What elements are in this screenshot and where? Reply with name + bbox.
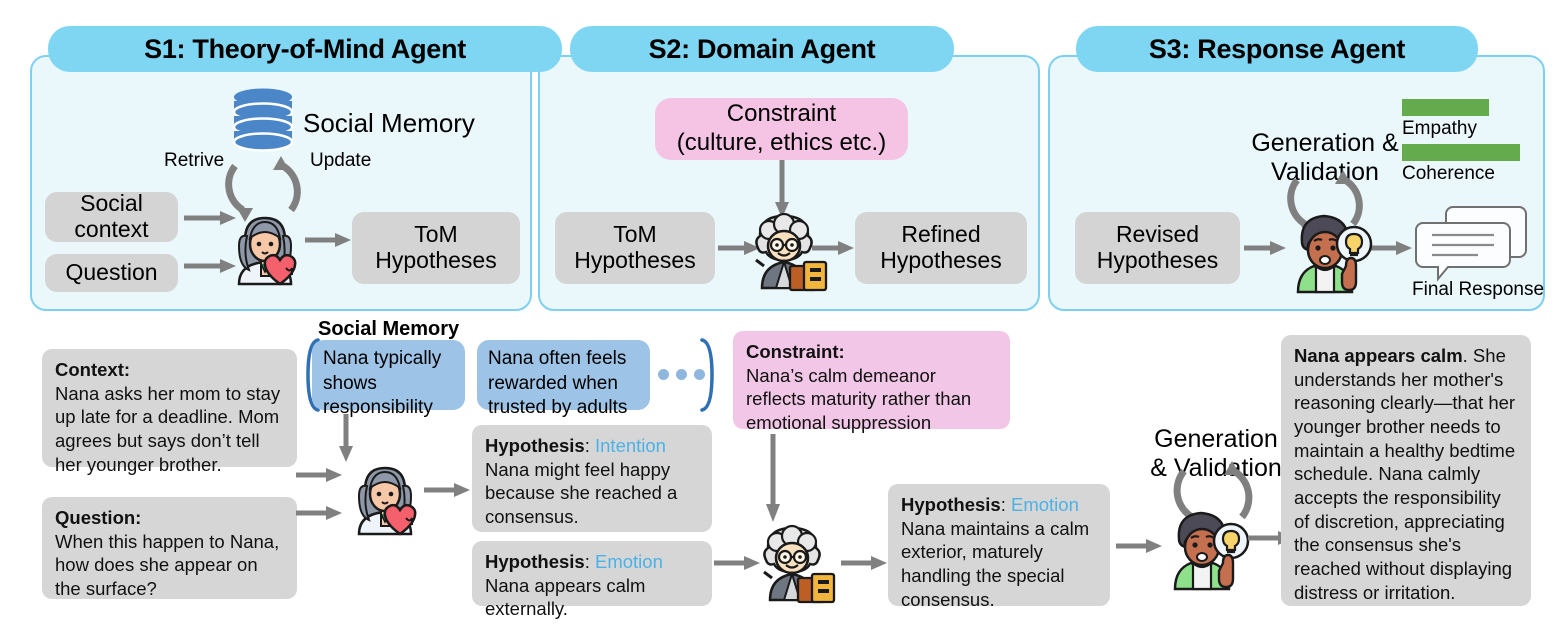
hypothesis-card-0-text: Nana might feel happy because she reache…	[485, 459, 677, 527]
chip-revised-hypotheses-s3: Revised Hypotheses	[1075, 212, 1240, 284]
panel-s1-title: S1: Theory-of-Mind Agent	[144, 34, 466, 65]
chip-tom-hypotheses-s1: ToM Hypotheses	[352, 212, 520, 284]
constraint-box-s2: Constraint (culture, ethics etc.)	[655, 98, 908, 160]
metric-bar-empathy	[1402, 99, 1489, 116]
hypothesis-card-0: Hypothesis: Intention Nana might feel ha…	[472, 425, 712, 532]
generation-validation-label-bottom: Generation & Validation	[1136, 395, 1296, 484]
chip-tom-hypotheses-s2-label: ToM Hypotheses	[574, 222, 695, 274]
chip-question-label: Question	[65, 260, 157, 286]
constraint-card-text: Nana’s calm demeanor reflects maturity r…	[746, 365, 971, 433]
memory-bubble-0: Nana typically shows responsibility	[312, 340, 465, 410]
arrow-context-to-tom-agent-bottom	[296, 467, 342, 483]
chip-social-context-label: Social context	[74, 191, 148, 243]
question-card-text: When this happen to Nana, how does she a…	[55, 531, 279, 599]
final-response-card: Nana appears calm. She understands her m…	[1281, 335, 1531, 606]
chip-question: Question	[45, 254, 178, 292]
panel-s3-header: S3: Response Agent	[1076, 26, 1478, 72]
response-agent-avatar-icon-bottom	[1165, 505, 1251, 589]
hypothesis-card-1-text: Nana appears calm externally.	[485, 575, 645, 620]
arrow-tom-agent-to-hypotheses-bottom	[424, 482, 470, 498]
constraint-card-label: Constraint:	[746, 341, 845, 362]
social-memory-label: Social Memory	[303, 108, 475, 139]
hypothesis-card-1: Hypothesis: Emotion Nana appears calm ex…	[472, 541, 712, 606]
panel-s3-title: S3: Response Agent	[1149, 34, 1405, 65]
metric-bar-coherence	[1402, 144, 1520, 161]
arrow-hypotheses-to-domain-agent-bottom	[714, 555, 760, 571]
final-response-card-bold: Nana appears calm	[1294, 345, 1463, 366]
panel-s1-header: S1: Theory-of-Mind Agent	[48, 26, 562, 72]
retrieve-label: Retrive	[164, 150, 224, 172]
refined-hypothesis-card-label: Hypothesis	[901, 494, 1001, 515]
chip-revised-hypotheses-s3-label: Revised Hypotheses	[1097, 222, 1218, 274]
chip-refined-hypotheses-s2-label: Refined Hypotheses	[880, 222, 1001, 274]
panel-s2-title: S2: Domain Agent	[649, 34, 876, 65]
generation-validation-label-s3: Generation & Validation	[1250, 100, 1400, 186]
arrow-question-to-tom-agent-bottom	[296, 505, 342, 521]
update-label: Update	[310, 150, 371, 172]
chip-tom-hypotheses-s1-label: ToM Hypotheses	[375, 222, 496, 274]
constraint-box-s2-label: Constraint (culture, ethics etc.)	[677, 100, 886, 158]
refined-hypothesis-card: Hypothesis: Emotion Nana maintains a cal…	[888, 484, 1110, 606]
memory-bubble-0-text: Nana typically shows responsibility	[323, 348, 441, 418]
metric-label-coherence: Coherence	[1402, 163, 1495, 185]
hypothesis-card-0-label: Hypothesis	[485, 435, 585, 456]
panel-s2-header: S2: Domain Agent	[570, 26, 954, 72]
memory-bubble-1-text: Nana often feels rewarded when trusted b…	[488, 348, 627, 418]
social-memory-bottom-label: Social Memory	[318, 317, 459, 341]
hypothesis-card-1-label: Hypothesis	[485, 551, 585, 572]
arrow-constraint-to-domain-agent-bottom	[765, 434, 781, 522]
generation-validation-label-s3-text: Generation & Validation	[1251, 129, 1398, 186]
hypothesis-card-1-tag: Emotion	[595, 551, 663, 572]
hypothesis-card-0-tag: Intention	[595, 435, 666, 456]
question-card: Question: When this happen to Nana, how …	[42, 497, 297, 599]
memory-bubble-1: Nana often feels rewarded when trusted b…	[477, 340, 650, 410]
refined-hypothesis-card-tag: Emotion	[1011, 494, 1079, 515]
arrow-domain-agent-to-refined-bottom	[841, 555, 887, 571]
metric-label-empathy: Empathy	[1402, 118, 1477, 140]
context-card-text: Nana asks her mom to stay up late for a …	[55, 383, 280, 475]
question-card-label: Question:	[55, 507, 141, 528]
arrow-refined-to-response-agent-bottom	[1116, 538, 1162, 554]
generation-validation-label-bottom-text: Generation & Validation	[1150, 425, 1282, 483]
memory-ellipsis-icon	[658, 369, 705, 380]
chip-tom-hypotheses-s2: ToM Hypotheses	[555, 212, 715, 284]
context-card: Context: Nana asks her mom to stay up la…	[42, 349, 297, 467]
final-response-card-text: . She understands her mother's reasoning…	[1294, 345, 1515, 603]
constraint-card-bottom: Constraint: Nana’s calm demeanor reflect…	[733, 331, 1010, 429]
context-card-label: Context:	[55, 359, 130, 380]
arrow-memory-to-tom-agent	[338, 414, 354, 462]
chip-social-context: Social context	[45, 192, 178, 242]
final-response-label: Final Response	[1412, 279, 1544, 301]
tom-agent-avatar-icon-bottom	[345, 456, 427, 538]
domain-agent-avatar-icon-bottom	[750, 520, 838, 602]
chip-refined-hypotheses-s2: Refined Hypotheses	[855, 212, 1027, 284]
refined-hypothesis-card-text: Nana maintains a calm exterior, maturely…	[901, 518, 1089, 610]
